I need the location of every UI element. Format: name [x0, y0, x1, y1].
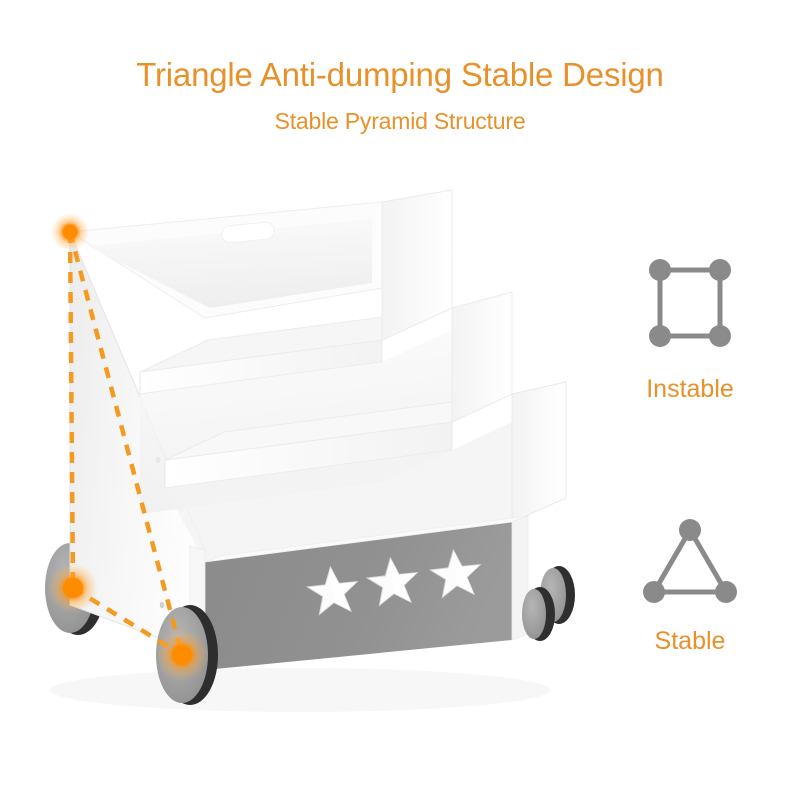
page-subtitle: Stable Pyramid Structure — [0, 105, 800, 137]
illustration-canvas: Triangle Anti-dumping Stable Design Stab… — [0, 0, 800, 800]
tier-3-right-wall — [512, 382, 566, 522]
page-title: Triangle Anti-dumping Stable Design — [0, 55, 800, 95]
tier-2-right-wall — [452, 292, 512, 422]
triangle-diagram-icon — [635, 512, 745, 612]
diagram-stable: Stable — [600, 512, 780, 656]
product-illustration — [0, 150, 620, 730]
ground-shadow — [50, 668, 550, 712]
tier-1-right-wall — [382, 190, 452, 340]
square-diagram-icon — [635, 248, 745, 360]
rear-wheel-marker — [63, 578, 83, 598]
apex-marker — [63, 225, 78, 240]
front-wheel-marker — [172, 645, 192, 665]
diagram-label-stable: Stable — [600, 626, 780, 656]
diagram-instable: Instable — [600, 248, 780, 404]
wheel-front-right — [522, 587, 555, 641]
screw-detail — [160, 602, 164, 608]
diagram-label-instable: Instable — [600, 374, 780, 404]
